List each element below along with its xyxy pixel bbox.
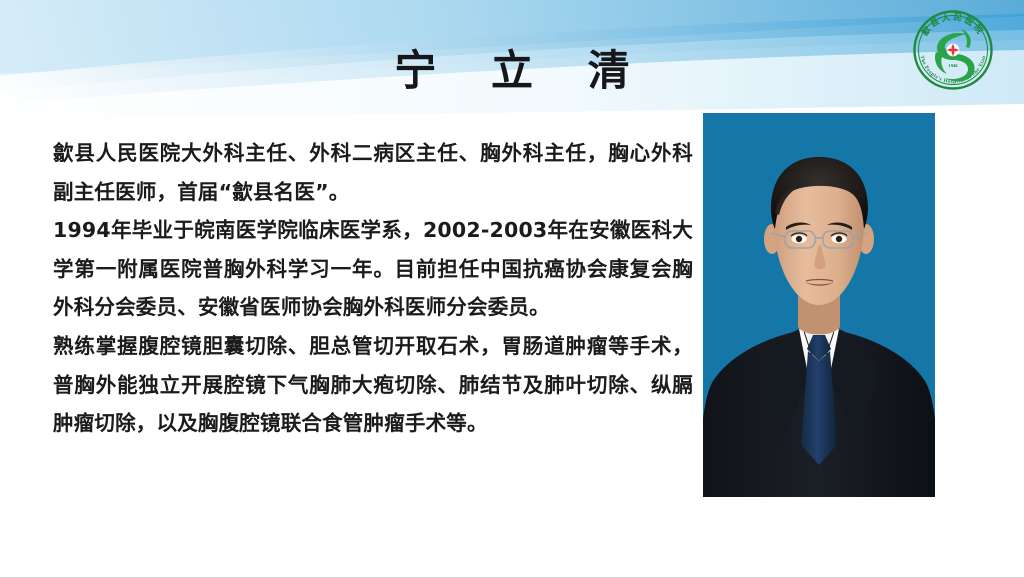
svg-text:1946: 1946 xyxy=(948,63,958,68)
bio-paragraph-3: 熟练掌握腹腔镜胆囊切除、胆总管切开取石术，胃肠道肿瘤等手术，普胸外能独立开展腔镜… xyxy=(53,327,693,443)
presentation-slide: 宁 立 清 歙县人民医院 The People's Hospital of Sh… xyxy=(0,0,1024,578)
slide-title: 宁 立 清 xyxy=(0,50,1024,92)
bio-paragraph-2: 1994年毕业于皖南医学院临床医学系，2002-2003年在安徽医科大学第一附属… xyxy=(53,211,693,327)
doctor-portrait-photo xyxy=(703,113,935,497)
biography-text-block: 歙县人民医院大外科主任、外科二病区主任、胸外科主任，胸心外科副主任医师，首届“歙… xyxy=(53,134,693,443)
hospital-logo-icon: 歙县人民医院 The People's Hospital of She Xian… xyxy=(911,8,995,92)
bio-paragraph-1: 歙县人民医院大外科主任、外科二病区主任、胸外科主任，胸心外科副主任医师，首届“歙… xyxy=(53,134,693,211)
